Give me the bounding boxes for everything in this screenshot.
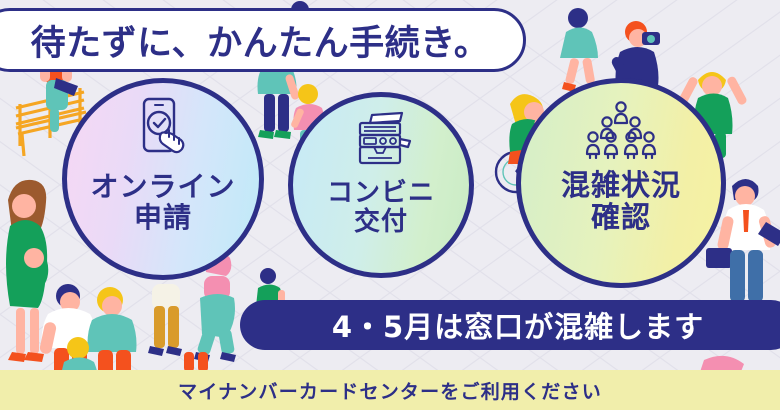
feature-label-online-line1: オンライン: [90, 171, 235, 202]
feature-label-konbini-line2: 交付: [327, 208, 435, 237]
congestion-notice-text: 4・5月は窓口が混雑します: [332, 304, 704, 346]
feature-label-online: オンライン 申請: [90, 171, 235, 234]
crowd-group-people-icon: [585, 101, 657, 163]
mynumber-card-center-banner: 待たずに、かんたん手続き。 オンライン 申請: [0, 0, 780, 410]
headline-pill: 待たずに、かんたん手続き。: [0, 8, 526, 72]
headline-text: 待たずに、かんたん手続き。: [15, 15, 490, 66]
feature-circle-congestion-status[interactable]: 混雑状況 確認: [516, 78, 726, 288]
feature-label-konzatsu-line1: 混雑状況: [561, 169, 681, 201]
footer-call-to-action-text: マイナンバーカードセンターをご利用ください: [178, 377, 602, 404]
footer-call-to-action-bar: マイナンバーカードセンターをご利用ください: [0, 370, 780, 410]
woman-orange-top-walking: [88, 287, 137, 372]
congestion-notice-banner: 4・5月は窓口が混雑します: [240, 300, 780, 350]
woman-teal-skirt: [560, 8, 598, 92]
man-white-shirt-orange-pants: [39, 284, 97, 372]
feature-circle-convenience-store-issuance[interactable]: コンビニ 交付: [288, 92, 474, 278]
feature-label-online-line2: 申請: [90, 202, 235, 233]
person-ochre-pants: [148, 284, 182, 356]
feature-label-konbini: コンビニ 交付: [327, 179, 435, 237]
smartphone-check-tap-icon: [130, 97, 196, 163]
feature-circle-online-application[interactable]: オンライン 申請: [62, 78, 264, 280]
feature-label-konzatsu-line2: 確認: [561, 201, 681, 233]
feature-label-konzatsu: 混雑状況 確認: [561, 169, 681, 234]
feature-label-konbini-line1: コンビニ: [327, 179, 435, 208]
multifunction-printer-icon: [350, 111, 412, 171]
